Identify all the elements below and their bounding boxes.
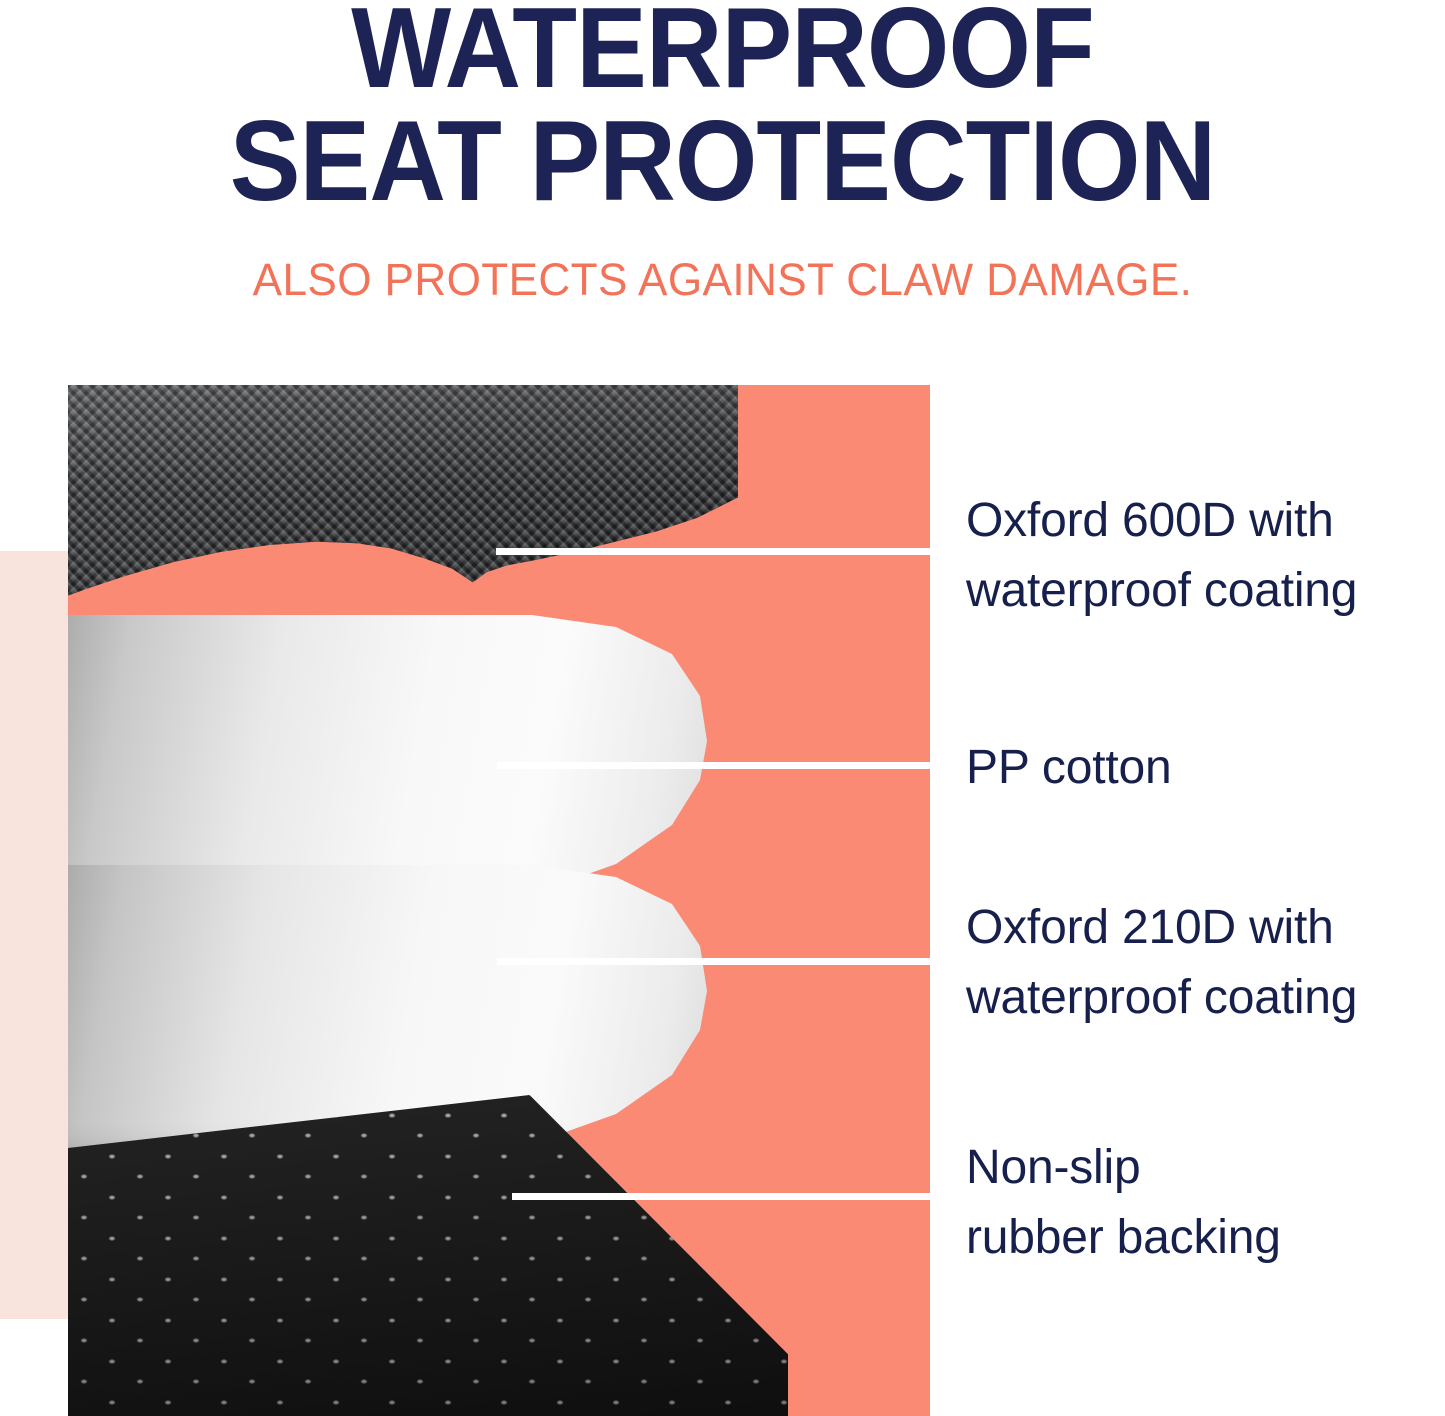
product-infographic: WATERPROOF SEAT PROTECTION ALSO PROTECTS…	[0, 0, 1445, 1416]
callout-label-oxford-210d: Oxford 210D with waterproof coating	[966, 893, 1445, 1033]
page-subtitle: ALSO PROTECTS AGAINST CLAW DAMAGE.	[14, 255, 1430, 305]
callout-label-rubber-backing: Non-slip rubber backing	[966, 1133, 1445, 1273]
pale-pink-accent-block	[0, 551, 68, 1319]
header: WATERPROOF SEAT PROTECTION ALSO PROTECTS…	[0, 0, 1445, 330]
callout-label-group: Oxford 600D with waterproof coating PP c…	[966, 385, 1445, 1416]
material-layers-panel	[68, 385, 930, 1416]
leader-line-pp-cotton	[497, 762, 930, 769]
leader-line-oxford-210d	[497, 958, 930, 965]
layer-rubber-backing	[68, 1095, 788, 1416]
page-title: WATERPROOF SEAT PROTECTION	[51, 0, 1395, 218]
leader-line-rubber-backing	[512, 1193, 930, 1200]
leader-line-oxford-600d	[496, 548, 930, 555]
title-line-1: WATERPROOF	[351, 0, 1094, 112]
callout-label-pp-cotton: PP cotton	[966, 733, 1445, 803]
title-line-2: SEAT PROTECTION	[51, 105, 1395, 218]
callout-label-oxford-600d: Oxford 600D with waterproof coating	[966, 486, 1445, 626]
